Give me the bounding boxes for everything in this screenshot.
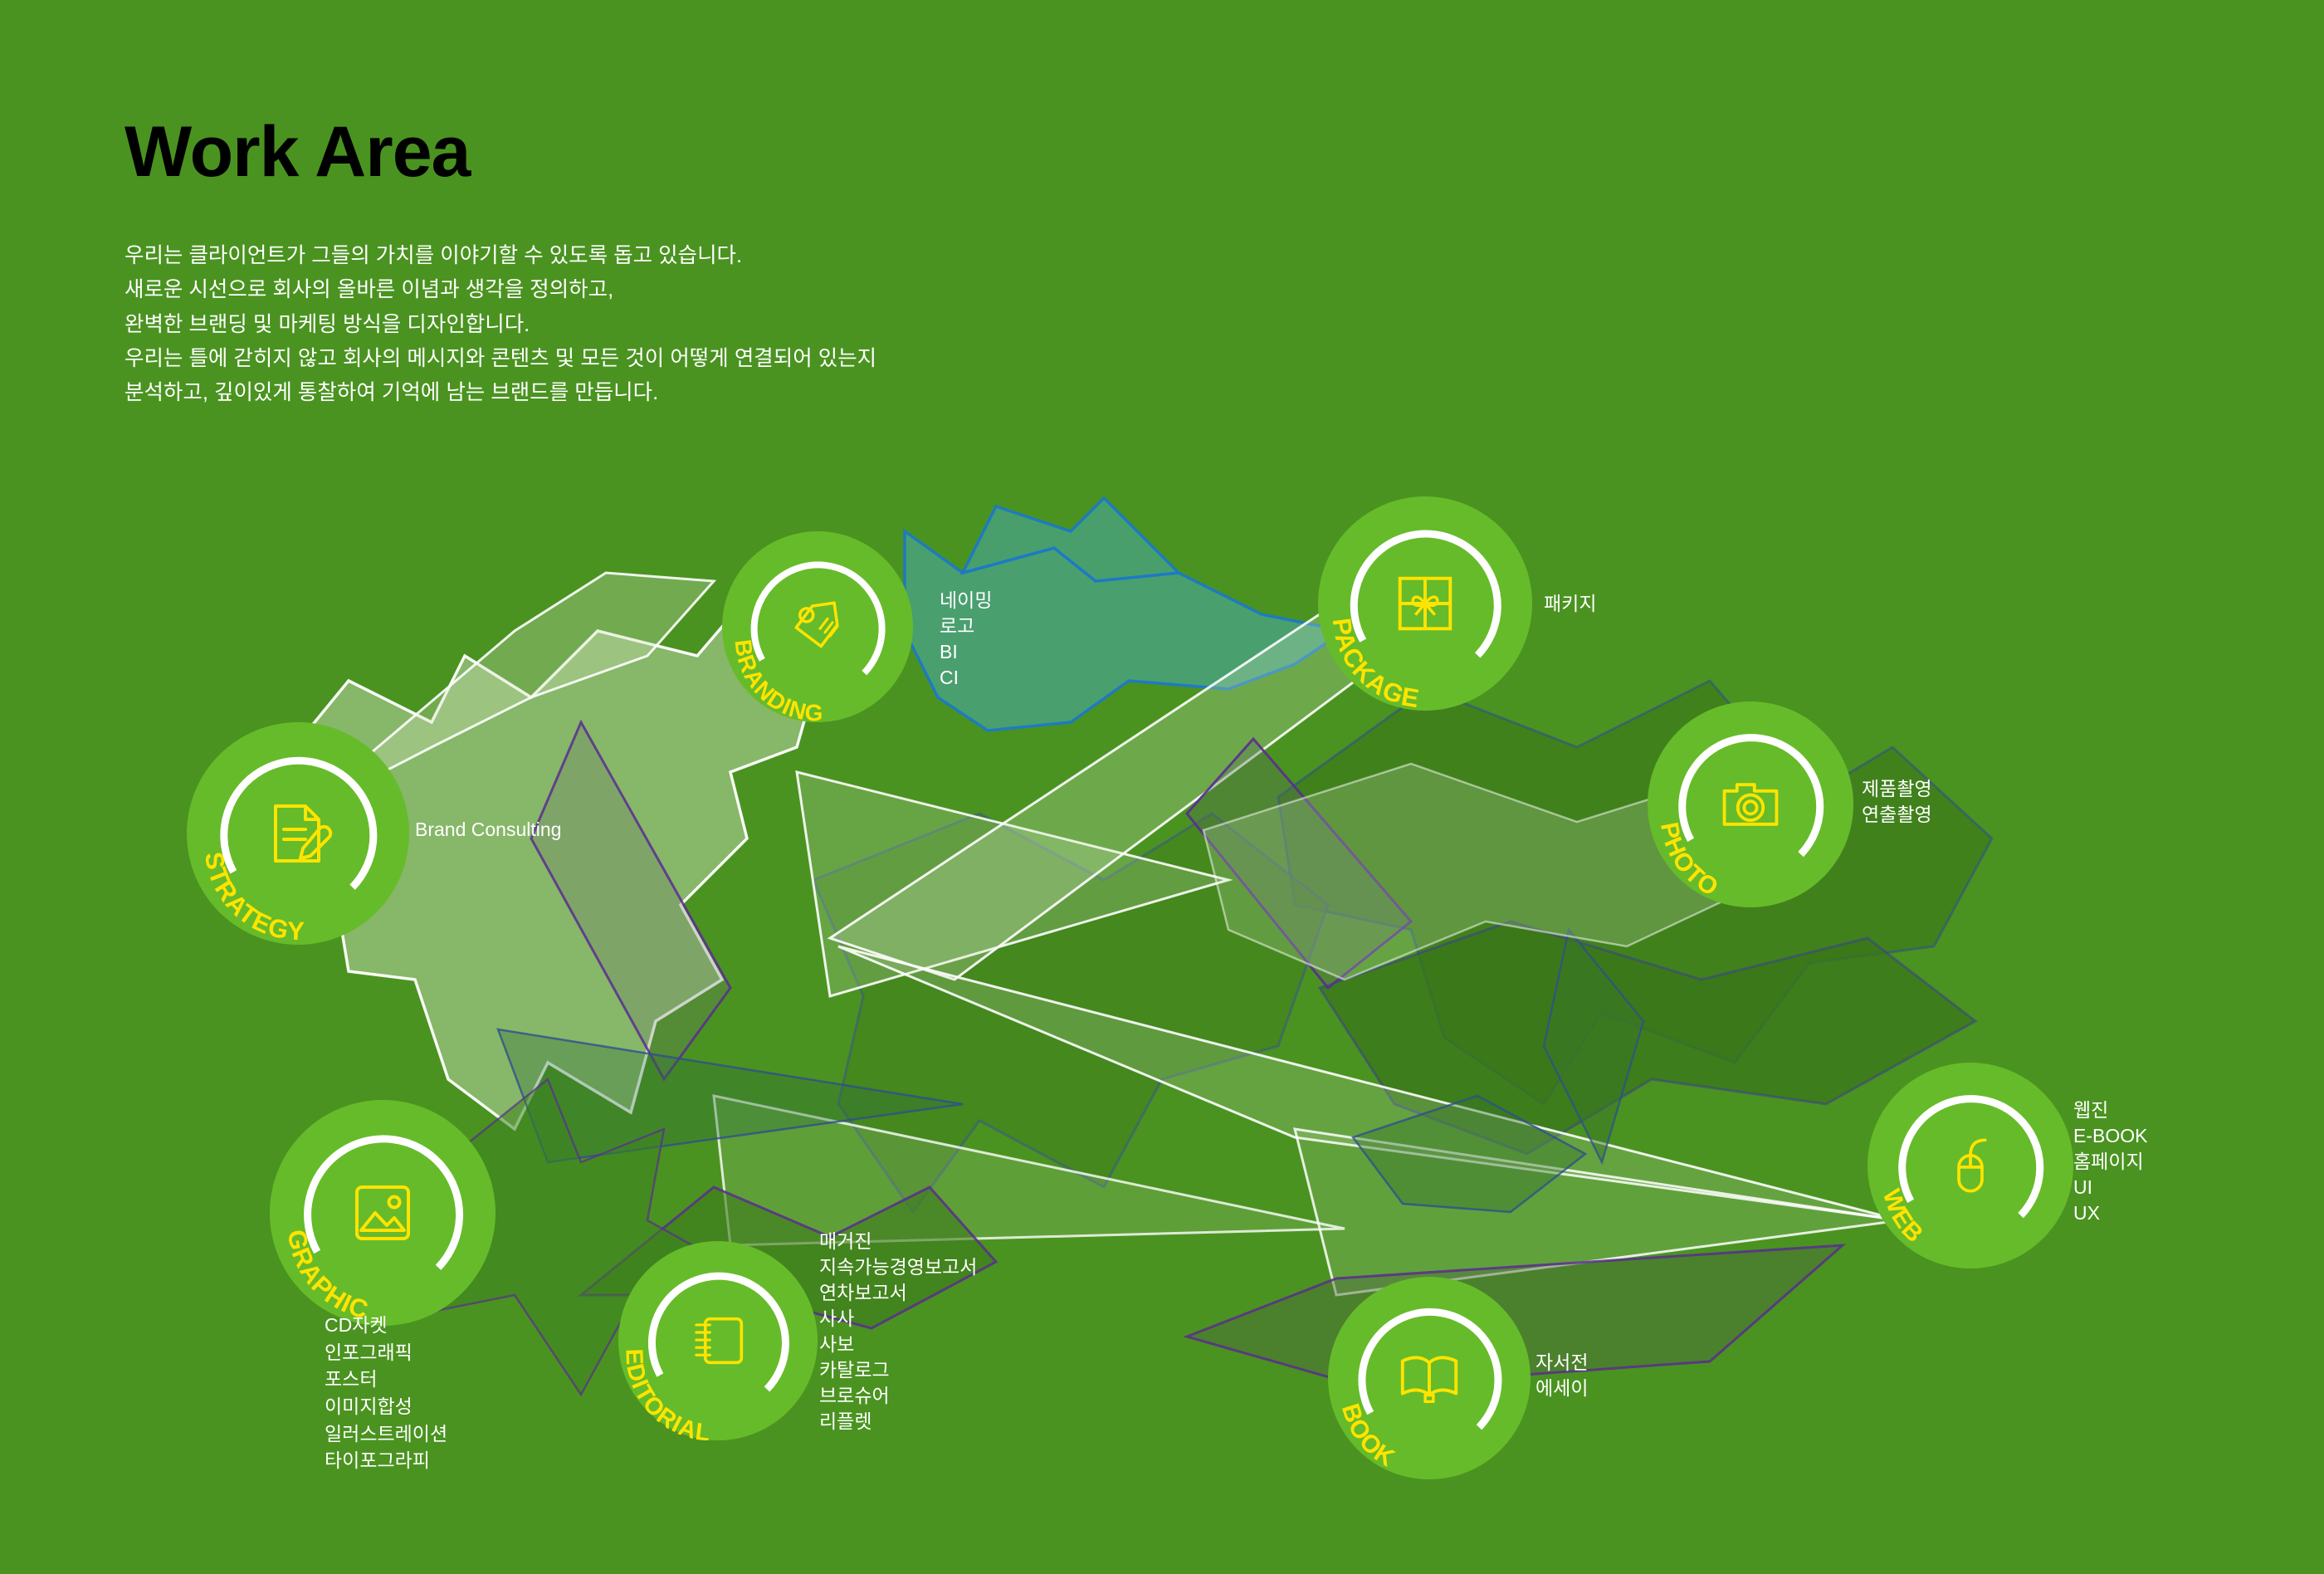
tag-item: Brand Consulting xyxy=(415,820,561,839)
intro-line: 완벽한 브랜딩 및 마케팅 방식을 디자인합니다. xyxy=(124,308,876,342)
node-editorial[interactable]: EDITORIAL 매거진 지속가능경영보고서 연차보고서 사사 사보 카탈로그… xyxy=(618,1241,818,1440)
intro-line: 새로운 시선으로 회사의 올바른 이념과 생각을 정의하고, xyxy=(124,273,876,307)
tag-item: 카탈로그 xyxy=(819,1357,977,1383)
page-title: Work Area xyxy=(124,116,876,188)
node-graphic[interactable]: GRAPHIC CD자켓 인포그래픽 포스터 이미지합성 일러스트레이션 타이포… xyxy=(270,1100,496,1326)
document-pen-icon xyxy=(256,792,339,875)
node-web[interactable]: WEB 웹진 E-BOOK 홈페이지 UI UX xyxy=(1867,1063,2073,1268)
sublist-item: 포스터 xyxy=(325,1366,447,1393)
price-tag-icon xyxy=(782,591,853,662)
tag-item: 제품촬영 xyxy=(1862,776,1932,802)
node-sublist-graphic: CD자켓 인포그래픽 포스터 이미지합성 일러스트레이션 타이포그라피 xyxy=(325,1312,447,1474)
tag-item: 에세이 xyxy=(1535,1376,1588,1401)
node-tags-book: 자서전 에세이 xyxy=(1535,1350,1588,1401)
node-strategy[interactable]: STRATEGY Brand Consulting xyxy=(187,722,409,945)
node-tags-editorial: 매거진 지속가능경영보고서 연차보고서 사사 사보 카탈로그 브로슈어 리플렛 xyxy=(819,1229,977,1435)
gift-box-icon xyxy=(1384,562,1467,645)
node-branding[interactable]: BRANDING 네이밍 로고 BI CI xyxy=(722,531,913,722)
intro-paragraph: 우리는 클라이언트가 그들의 가치를 이야기할 수 있도록 돕고 있습니다. 새… xyxy=(124,239,876,410)
tag-item: 매거진 xyxy=(819,1229,977,1254)
sublist-item: 이미지합성 xyxy=(325,1393,447,1420)
sublist-item: 인포그래픽 xyxy=(325,1339,447,1366)
node-tags-package: 패키지 xyxy=(1544,594,1596,613)
sublist-item: 타이포그라피 xyxy=(325,1447,447,1474)
node-photo[interactable]: PHOTO 제품촬영 연출촬영 xyxy=(1648,701,1853,907)
tag-item: 로고 xyxy=(940,613,992,639)
sublist-item: CD자켓 xyxy=(325,1312,447,1339)
tag-item: 연출촬영 xyxy=(1862,802,1932,828)
tag-item: CI xyxy=(940,665,992,691)
tag-item: 리플렛 xyxy=(819,1409,977,1435)
tag-item: E-BOOK xyxy=(2073,1123,2147,1149)
tag-item: 브로슈어 xyxy=(819,1383,977,1409)
intro-line: 우리는 틀에 갇히지 않고 회사의 메시지와 콘텐츠 및 모든 것이 어떻게 연… xyxy=(124,342,876,376)
node-tags-web: 웹진 E-BOOK 홈페이지 UI UX xyxy=(2073,1097,2147,1226)
tag-item: 네이밍 xyxy=(940,588,992,613)
tag-item: 사사 xyxy=(819,1306,977,1332)
computer-mouse-icon xyxy=(1931,1126,2010,1205)
node-tags-photo: 제품촬영 연출촬영 xyxy=(1862,776,1932,828)
tag-item: 패키지 xyxy=(1544,594,1596,613)
node-book[interactable]: BOOK 자서전 에세이 xyxy=(1328,1277,1531,1479)
tag-item: 사보 xyxy=(819,1332,977,1357)
image-picture-icon xyxy=(339,1170,426,1256)
sublist-item: 일러스트레이션 xyxy=(325,1420,447,1448)
open-book-icon xyxy=(1389,1338,1469,1418)
camera-icon xyxy=(1711,765,1790,844)
node-tags-strategy: Brand Consulting xyxy=(415,820,561,839)
intro-line: 우리는 클라이언트가 그들의 가치를 이야기할 수 있도록 돕고 있습니다. xyxy=(124,239,876,273)
tag-item: UX xyxy=(2073,1200,2147,1226)
header: Work Area 우리는 클라이언트가 그들의 가치를 이야기할 수 있도록 … xyxy=(124,116,876,410)
tag-item: 지속가능경영보고서 xyxy=(819,1254,977,1280)
node-package[interactable]: PACKAGE 패키지 xyxy=(1318,496,1532,711)
tag-item: 자서전 xyxy=(1535,1350,1588,1376)
node-tags-branding: 네이밍 로고 BI CI xyxy=(940,588,992,691)
tag-item: BI xyxy=(940,639,992,665)
tag-item: 웹진 xyxy=(2073,1097,2147,1123)
tag-item: 연차보고서 xyxy=(819,1280,977,1306)
tag-item: 홈페이지 xyxy=(2073,1149,2147,1175)
intro-line: 분석하고, 깊이있게 통찰하여 기억에 남는 브랜드를 만듭니다. xyxy=(124,376,876,410)
work-area-infographic: STRATEGY Brand Consulting BRANDING xyxy=(0,0,2324,1574)
notebook-icon xyxy=(681,1303,758,1379)
tag-item: UI xyxy=(2073,1175,2147,1200)
